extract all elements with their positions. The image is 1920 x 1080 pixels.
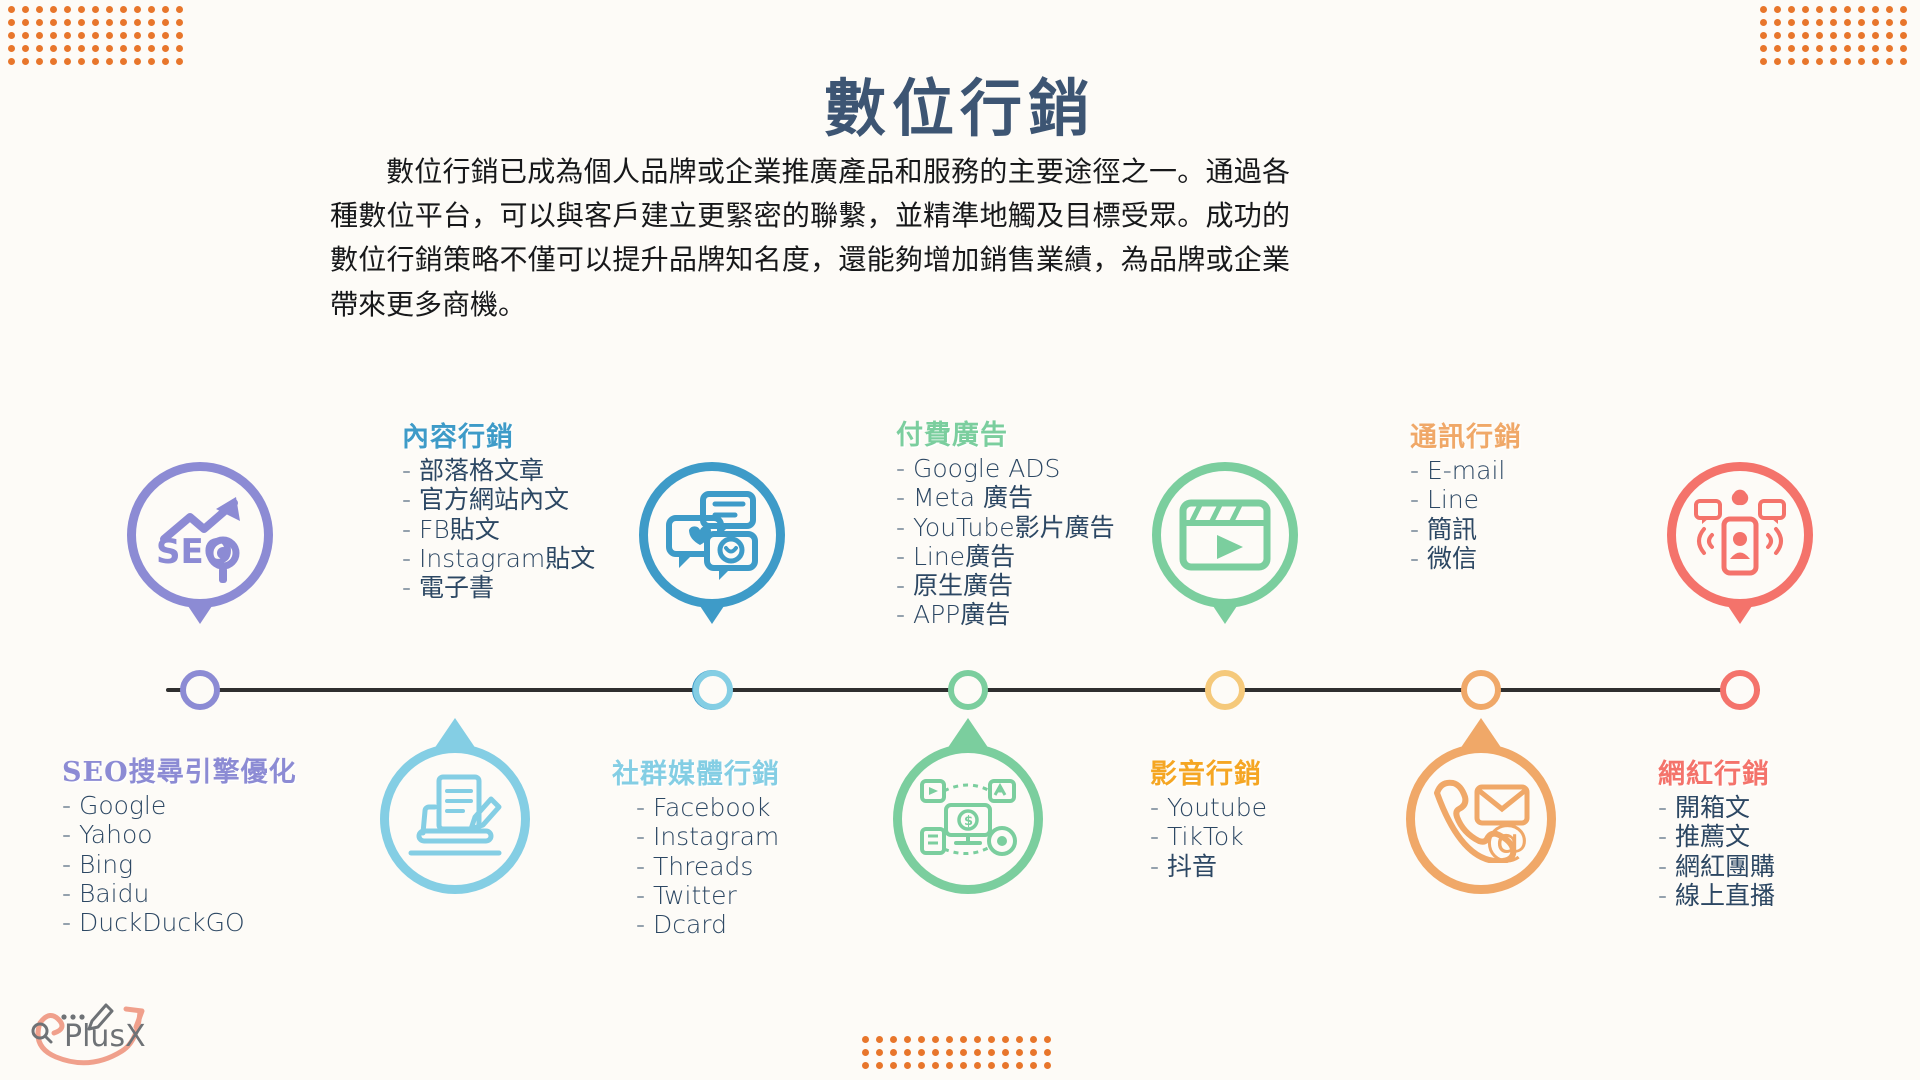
block-comm: 通訊行銷 - E-mail - Line - 簡訊 - 微信 [1410,415,1522,573]
block-list-social: - Facebook - Instagram - Threads - Twitt… [612,793,780,939]
block-title-content: 內容行銷 [378,415,595,454]
list-item: - DuckDuckGO [62,908,297,937]
drop-comm[interactable]: @ [1406,718,1556,868]
list-item: - Threads [636,852,780,881]
block-list-influencer: - 開箱文 - 推薦文 - 網紅團購 - 線上直播 [1658,793,1775,910]
block-title-social: 社群媒體行銷 [612,752,780,791]
pin-content[interactable] [639,462,785,608]
laptop-document-pen-icon [380,744,530,894]
megaphone-ads-network-icon: $ [893,744,1043,894]
list-item: - 官方網站內文 [402,485,595,514]
seo-growth-chart-icon: SEO [127,462,273,608]
list-item: - Instagram貼文 [402,544,595,573]
block-influencer: 網紅行銷 - 開箱文 - 推薦文 - 網紅團購 - 線上直播 [1658,752,1775,910]
block-list-comm: - E-mail - Line - 簡訊 - 微信 [1410,456,1522,573]
list-item: - E-mail [1410,456,1522,485]
pin-paid[interactable] [1152,462,1298,608]
block-paid: 付費廣告 - Google ADS - Meta 廣告 - YouTube影片廣… [896,413,1115,630]
block-video: 影音行銷 - Youtube - TikTok - 抖音 [1150,752,1267,881]
drop-paid[interactable]: $ [893,718,1043,868]
chat-bubbles-content-icon [639,462,785,608]
timeline-node-paid[interactable] [948,670,988,710]
block-title-influencer: 網紅行銷 [1658,752,1775,791]
video-player-play-icon [1152,462,1298,608]
list-item: - 電子書 [402,573,595,602]
logo-text: PlusX [64,1019,146,1054]
list-item: - Bing [62,850,297,879]
list-item: - FB貼文 [402,515,595,544]
block-list-paid: - Google ADS - Meta 廣告 - YouTube影片廣告 - L… [896,454,1115,630]
plusx-logo: PlusX [18,995,168,1071]
block-list-seo: - Google - Yahoo - Bing - Baidu - DuckDu… [62,791,297,937]
drop-social[interactable] [380,718,530,868]
pin-influencer[interactable] [1667,462,1813,608]
list-item: - 開箱文 [1658,793,1775,822]
list-item: - Meta 廣告 [896,483,1115,512]
list-item: - APP廣告 [896,600,1115,629]
pin-seo[interactable]: SEO [127,462,273,608]
list-item: - Google ADS [896,454,1115,483]
list-item: - Google [62,791,297,820]
block-list-video: - Youtube - TikTok - 抖音 [1150,793,1267,881]
list-item: - Baidu [62,879,297,908]
list-item: - TikTok [1150,822,1267,851]
list-item: - 抖音 [1150,852,1267,881]
block-title-paid: 付費廣告 [896,413,1115,452]
smartphone-influencer-icon [1667,462,1813,608]
block-seo: SEO搜尋引擎優化 - Google - Yahoo - Bing - Baid… [62,750,297,937]
list-item: - YouTube影片廣告 [896,513,1115,542]
list-item: - 微信 [1410,544,1522,573]
decorative-dots-top-right [1760,6,1920,66]
timeline-node-social[interactable] [693,670,733,710]
list-item: - Facebook [636,793,780,822]
block-title-video: 影音行銷 [1150,752,1267,791]
list-item: - 部落格文章 [402,456,595,485]
list-item: - 推薦文 [1658,822,1775,851]
timeline-node-comm[interactable] [1461,670,1501,710]
timeline-node-influencer[interactable] [1720,670,1760,710]
list-item: - Line [1410,485,1522,514]
list-item: - 線上直播 [1658,881,1775,910]
list-item: - Instagram [636,822,780,851]
list-item: - Twitter [636,881,780,910]
timeline-node-seo[interactable] [180,670,220,710]
list-item: - Line廣告 [896,542,1115,571]
decorative-dots-top-left [8,6,188,66]
page-title: 數位行銷 [0,58,1920,148]
decorative-dots-bottom-center [862,1036,1062,1076]
list-item: - 簡訊 [1410,515,1522,544]
intro-paragraph: 數位行銷已成為個人品牌或企業推廣產品和服務的主要途徑之一。通過各種數位平台，可以… [330,150,1290,327]
svg-text:@: @ [1485,815,1529,863]
block-title-comm: 通訊行銷 [1410,415,1522,454]
timeline-node-video[interactable] [1205,670,1245,710]
phone-envelope-at-icon: @ [1406,744,1556,894]
infographic-canvas: 數位行銷 數位行銷已成為個人品牌或企業推廣產品和服務的主要途徑之一。通過各種數位… [0,0,1920,1080]
list-item: - Dcard [636,910,780,939]
block-social: 社群媒體行銷 - Facebook - Instagram - Threads … [612,752,780,939]
list-item: - 網紅團購 [1658,852,1775,881]
list-item: - Yahoo [62,820,297,849]
block-list-content: - 部落格文章 - 官方網站內文 - FB貼文 - Instagram貼文 - … [378,456,595,602]
svg-text:$: $ [964,814,973,829]
list-item: - 原生廣告 [896,571,1115,600]
block-content: 內容行銷 - 部落格文章 - 官方網站內文 - FB貼文 - Instagram… [378,415,595,602]
block-title-seo: SEO搜尋引擎優化 [62,750,297,789]
list-item: - Youtube [1150,793,1267,822]
